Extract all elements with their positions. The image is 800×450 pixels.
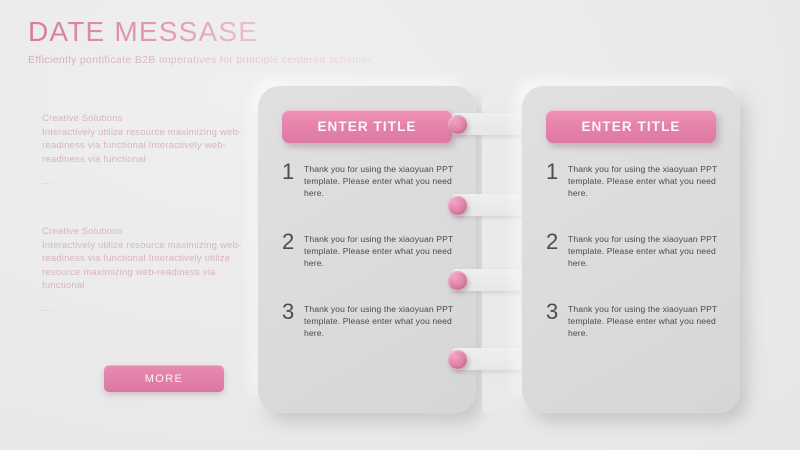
header: DATE MESSASE Efficiently pontificate B2B… (28, 16, 377, 66)
list-item[interactable]: 1 Thank you for using the xiaoyuan PPT t… (282, 163, 454, 233)
paragraph-lead: Creative Solutions (42, 225, 242, 239)
paragraph-body: Interactively utilize resource maximizin… (42, 127, 241, 165)
paragraph-lead: Creative Solutions (42, 112, 242, 126)
paragraph-block: Creative Solutions Interactively utilize… (42, 112, 242, 189)
connector-dot-icon (448, 350, 467, 369)
list-item[interactable]: 2 Thank you for using the xiaoyuan PPT t… (546, 233, 718, 303)
panel-right: ENTER TITLE 1 Thank you for using the xi… (522, 86, 740, 413)
list-item[interactable]: 3 Thank you for using the xiaoyuan PPT t… (282, 303, 454, 373)
list-item[interactable]: 1 Thank you for using the xiaoyuan PPT t… (546, 163, 718, 233)
paragraph-ellipsis: ... (42, 175, 242, 189)
connector-dot-icon (448, 115, 467, 134)
page-title: DATE MESSASE (28, 16, 377, 48)
item-number: 1 (546, 161, 568, 183)
item-text: Thank you for using the xiaoyuan PPT tem… (304, 303, 454, 340)
item-text: Thank you for using the xiaoyuan PPT tem… (568, 303, 718, 340)
item-list-left: 1 Thank you for using the xiaoyuan PPT t… (282, 163, 454, 373)
left-text-column: Creative Solutions Interactively utilize… (42, 112, 242, 316)
item-number: 2 (546, 231, 568, 253)
slide-canvas: DATE MESSASE Efficiently pontificate B2B… (0, 0, 800, 450)
item-text: Thank you for using the xiaoyuan PPT tem… (568, 163, 718, 200)
paragraph-body: Interactively utilize resource maximizin… (42, 240, 241, 292)
item-number: 1 (282, 161, 304, 183)
connector-dot-icon (448, 196, 467, 215)
enter-title-button-right[interactable]: ENTER TITLE (546, 110, 716, 143)
more-button[interactable]: MORE (104, 365, 224, 392)
page-subtitle: Efficiently pontificate B2B imperatives … (28, 54, 377, 66)
paragraph-ellipsis: ... (42, 302, 242, 316)
item-text: Thank you for using the xiaoyuan PPT tem… (568, 233, 718, 270)
list-item[interactable]: 2 Thank you for using the xiaoyuan PPT t… (282, 233, 454, 303)
connector-dot-icon (448, 271, 467, 290)
paragraph-block: Creative Solutions Interactively utilize… (42, 225, 242, 316)
item-number: 3 (282, 301, 304, 323)
item-list-right: 1 Thank you for using the xiaoyuan PPT t… (546, 163, 718, 373)
enter-title-button-left[interactable]: ENTER TITLE (282, 110, 452, 143)
panel-left: ENTER TITLE 1 Thank you for using the xi… (258, 86, 476, 413)
item-number: 3 (546, 301, 568, 323)
item-text: Thank you for using the xiaoyuan PPT tem… (304, 233, 454, 270)
item-text: Thank you for using the xiaoyuan PPT tem… (304, 163, 454, 200)
list-item[interactable]: 3 Thank you for using the xiaoyuan PPT t… (546, 303, 718, 373)
item-number: 2 (282, 231, 304, 253)
